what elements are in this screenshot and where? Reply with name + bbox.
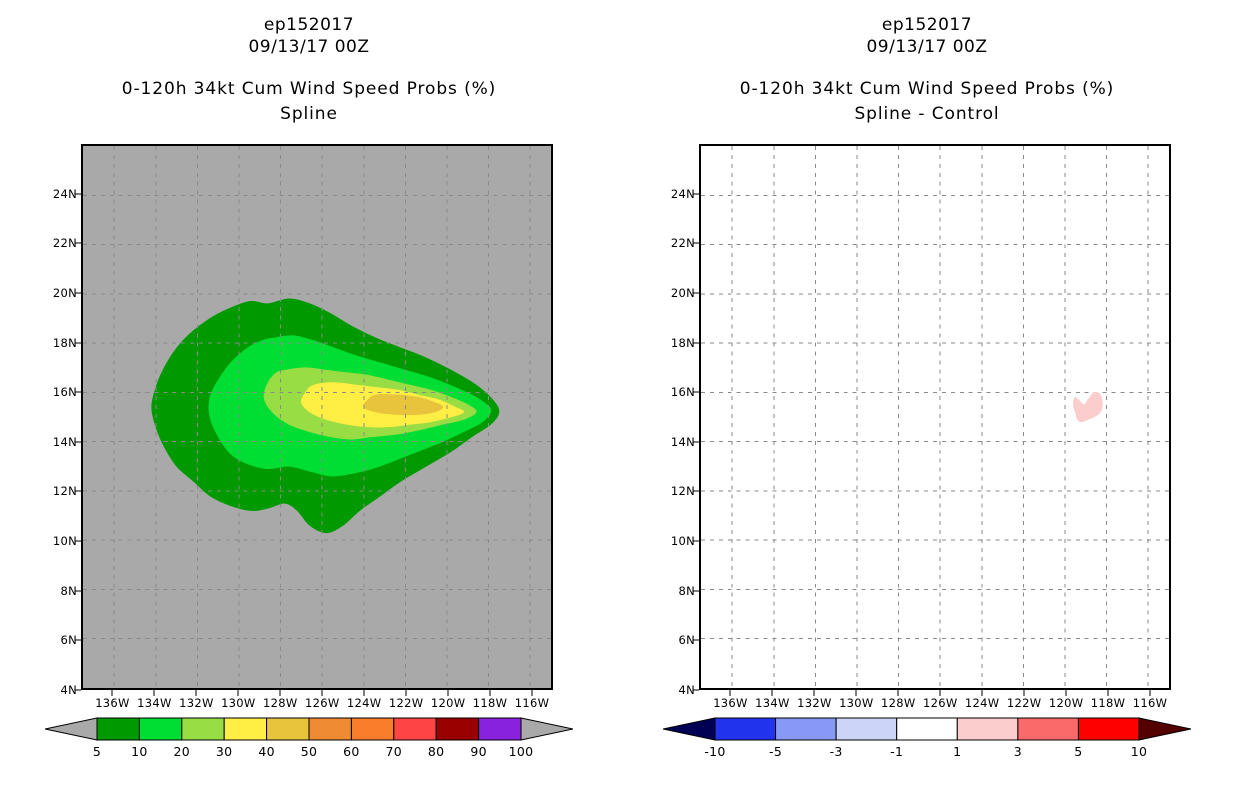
chart-subtitle-right: Spline - Control xyxy=(618,102,1236,126)
x-tick-label: 136W xyxy=(95,696,130,710)
x-tick-mark xyxy=(1066,690,1067,696)
colorbar-tick-label: 10 xyxy=(1131,744,1148,759)
x-tick-label: 134W xyxy=(755,696,790,710)
y-tick-label: 12N xyxy=(53,484,77,498)
contour-band-1 xyxy=(1073,392,1102,422)
x-tick-mark xyxy=(364,690,365,696)
colorbar-under-arrow xyxy=(45,718,97,740)
y-tick-mark xyxy=(75,690,81,691)
y-tick-mark xyxy=(75,491,81,492)
chart-title-left: 0-120h 34kt Cum Wind Speed Probs (%) xyxy=(0,76,618,102)
y-tick-mark xyxy=(75,541,81,542)
colorbar-swatch xyxy=(479,718,521,740)
colorbar-tick-label: -10 xyxy=(704,744,725,759)
x-tick-label: 126W xyxy=(305,696,340,710)
x-tick-label: 132W xyxy=(179,696,214,710)
y-tick-mark xyxy=(693,392,699,393)
x-tick-mark xyxy=(448,690,449,696)
x-tick-label: 130W xyxy=(221,696,256,710)
panel-spline-minus-control: ep152017 09/13/17 00Z 0-120h 34kt Cum Wi… xyxy=(618,0,1236,800)
x-tick-mark xyxy=(532,690,533,696)
colorbar-swatches-right xyxy=(663,714,1191,744)
y-tick-mark xyxy=(75,590,81,591)
x-tick-label: 134W xyxy=(137,696,172,710)
y-tick-mark xyxy=(75,392,81,393)
y-tick-mark xyxy=(693,193,699,194)
plot-area-right xyxy=(699,144,1171,690)
x-tick-mark xyxy=(1108,690,1109,696)
x-tick-label: 132W xyxy=(797,696,832,710)
colorbar-tick-label: 80 xyxy=(428,744,445,759)
colorbar-tick-label: 70 xyxy=(386,744,403,759)
x-tick-mark xyxy=(238,690,239,696)
colorbar-swatch xyxy=(267,718,309,740)
y-tick-label: 24N xyxy=(53,187,77,201)
y-tick-mark xyxy=(75,441,81,442)
colorbar-tick-label: -1 xyxy=(890,744,903,759)
y-tick-label: 18N xyxy=(671,336,695,350)
x-tick-label: 122W xyxy=(1007,696,1042,710)
colorbar-tick-label: 100 xyxy=(509,744,534,759)
x-tick-label: 116W xyxy=(1133,696,1168,710)
colorbar-swatch xyxy=(351,718,393,740)
chart-title-right: 0-120h 34kt Cum Wind Speed Probs (%) xyxy=(618,76,1236,102)
y-tick-label: 16N xyxy=(53,385,77,399)
x-tick-label: 122W xyxy=(389,696,424,710)
x-tick-label: 128W xyxy=(263,696,298,710)
x-tick-mark xyxy=(772,690,773,696)
x-tick-mark xyxy=(730,690,731,696)
colorbar-swatch xyxy=(139,718,181,740)
y-axis-right: 24N22N20N18N16N14N12N10N8N6N4N xyxy=(618,144,695,690)
y-tick-mark xyxy=(693,243,699,244)
colorbar-swatch xyxy=(957,718,1018,740)
colorbar-swatch xyxy=(1078,718,1139,740)
y-tick-mark xyxy=(75,342,81,343)
x-tick-label: 124W xyxy=(347,696,382,710)
y-tick-mark xyxy=(693,590,699,591)
y-tick-label: 16N xyxy=(671,385,695,399)
colorbar-labels-left: 5102030405060708090100 xyxy=(45,744,573,766)
colorbar-swatches-left xyxy=(45,714,573,744)
colorbar-tick-label: 10 xyxy=(131,744,148,759)
date-time-right: 09/13/17 00Z xyxy=(618,36,1236,58)
x-tick-label: 118W xyxy=(473,696,508,710)
colorbar-under-arrow xyxy=(663,718,715,740)
colorbar-tick-label: 20 xyxy=(174,744,191,759)
y-axis-left: 24N22N20N18N16N14N12N10N8N6N4N xyxy=(0,144,77,690)
x-tick-mark xyxy=(112,690,113,696)
panel-spline: ep152017 09/13/17 00Z 0-120h 34kt Cum Wi… xyxy=(0,0,618,800)
storm-id-right: ep152017 xyxy=(618,14,1236,36)
colorbar-tick-label: -3 xyxy=(830,744,843,759)
contour-layer-right xyxy=(701,146,1169,688)
x-tick-mark xyxy=(856,690,857,696)
colorbar-swatch xyxy=(1018,718,1079,740)
x-tick-label: 136W xyxy=(713,696,748,710)
y-tick-label: 20N xyxy=(671,286,695,300)
x-axis-right: 136W134W132W130W128W126W124W122W120W118W… xyxy=(699,696,1171,716)
figure-root: ep152017 09/13/17 00Z 0-120h 34kt Cum Wi… xyxy=(0,0,1236,800)
y-tick-mark xyxy=(693,640,699,641)
colorbar-tick-label: 60 xyxy=(343,744,360,759)
y-tick-mark xyxy=(693,541,699,542)
y-tick-label: 14N xyxy=(53,435,77,449)
x-tick-mark xyxy=(154,690,155,696)
colorbar-tick-label: 40 xyxy=(258,744,275,759)
y-tick-mark xyxy=(693,342,699,343)
x-tick-label: 116W xyxy=(515,696,550,710)
x-tick-mark xyxy=(814,690,815,696)
y-tick-mark xyxy=(693,292,699,293)
y-tick-mark xyxy=(75,292,81,293)
y-tick-label: 14N xyxy=(671,435,695,449)
plot-area-left xyxy=(81,144,553,690)
x-tick-mark xyxy=(1024,690,1025,696)
colorbar-tick-label: 1 xyxy=(953,744,961,759)
colorbar-right: -10-5-3-113510 xyxy=(663,714,1191,774)
colorbar-swatch xyxy=(394,718,436,740)
colorbar-swatch xyxy=(97,718,139,740)
y-tick-mark xyxy=(75,640,81,641)
x-tick-mark xyxy=(982,690,983,696)
plot-canvas-right xyxy=(701,146,1169,688)
colorbar-swatch xyxy=(836,718,897,740)
x-tick-mark xyxy=(490,690,491,696)
colorbar-over-arrow xyxy=(1139,718,1191,740)
x-tick-mark xyxy=(898,690,899,696)
y-tick-mark xyxy=(693,690,699,691)
colorbar-swatch xyxy=(436,718,478,740)
x-tick-label: 120W xyxy=(431,696,466,710)
colorbar-tick-label: 3 xyxy=(1014,744,1022,759)
colorbar-left: 5102030405060708090100 xyxy=(45,714,573,774)
colorbar-swatch xyxy=(776,718,837,740)
x-tick-label: 130W xyxy=(839,696,874,710)
colorbar-tick-label: 5 xyxy=(93,744,101,759)
colorbar-tick-label: 90 xyxy=(470,744,487,759)
colorbar-swatch xyxy=(715,718,776,740)
gridlines-left xyxy=(83,146,551,688)
x-axis-left: 136W134W132W130W128W126W124W122W120W118W… xyxy=(81,696,553,716)
x-tick-label: 126W xyxy=(923,696,958,710)
y-tick-label: 24N xyxy=(671,187,695,201)
panel-titles-right: ep152017 09/13/17 00Z 0-120h 34kt Cum Wi… xyxy=(618,14,1236,126)
x-tick-label: 124W xyxy=(965,696,1000,710)
y-tick-label: 10N xyxy=(53,534,77,548)
colorbar-labels-right: -10-5-3-113510 xyxy=(663,744,1191,766)
y-tick-label: 18N xyxy=(53,336,77,350)
colorbar-swatch xyxy=(182,718,224,740)
colorbar-swatch xyxy=(309,718,351,740)
y-tick-label: 22N xyxy=(671,236,695,250)
x-tick-mark xyxy=(280,690,281,696)
y-tick-mark xyxy=(75,243,81,244)
x-tick-mark xyxy=(196,690,197,696)
colorbar-over-arrow xyxy=(521,718,573,740)
panel-titles-left: ep152017 09/13/17 00Z 0-120h 34kt Cum Wi… xyxy=(0,14,618,126)
x-tick-mark xyxy=(406,690,407,696)
x-tick-mark xyxy=(1150,690,1151,696)
y-tick-label: 20N xyxy=(53,286,77,300)
chart-subtitle-left: Spline xyxy=(0,102,618,126)
x-tick-label: 120W xyxy=(1049,696,1084,710)
y-tick-mark xyxy=(693,491,699,492)
plot-canvas-left xyxy=(83,146,551,688)
storm-id-left: ep152017 xyxy=(0,14,618,36)
y-tick-mark xyxy=(693,441,699,442)
colorbar-swatch xyxy=(897,718,958,740)
colorbar-tick-label: 50 xyxy=(301,744,318,759)
x-tick-mark xyxy=(940,690,941,696)
x-tick-label: 128W xyxy=(881,696,916,710)
colorbar-swatch xyxy=(224,718,266,740)
y-tick-mark xyxy=(75,193,81,194)
x-tick-mark xyxy=(322,690,323,696)
plot-frame-left xyxy=(81,144,553,690)
colorbar-tick-label: -5 xyxy=(769,744,782,759)
x-tick-label: 118W xyxy=(1091,696,1126,710)
y-tick-label: 12N xyxy=(671,484,695,498)
plot-frame-right xyxy=(699,144,1171,690)
colorbar-tick-label: 5 xyxy=(1074,744,1082,759)
colorbar-tick-label: 30 xyxy=(216,744,233,759)
y-tick-label: 10N xyxy=(671,534,695,548)
y-tick-label: 22N xyxy=(53,236,77,250)
date-time-left: 09/13/17 00Z xyxy=(0,36,618,58)
